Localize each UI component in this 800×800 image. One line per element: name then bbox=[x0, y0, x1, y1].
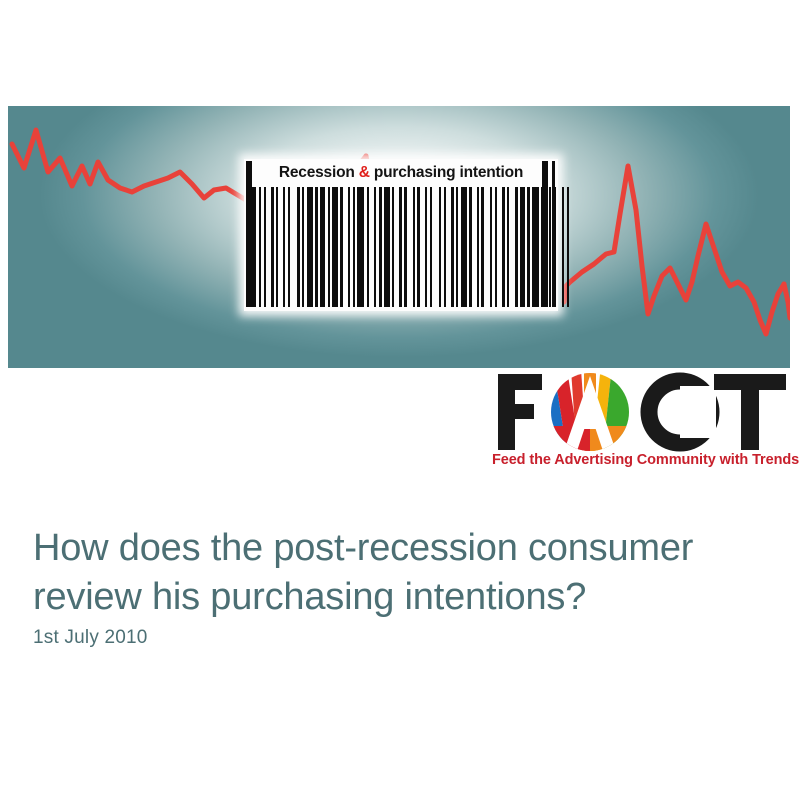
page-title: How does the post-recession consumer rev… bbox=[33, 524, 763, 622]
barcode-space bbox=[432, 187, 439, 307]
presentation-slide: Recession & purchasing intention bbox=[0, 0, 800, 800]
barcode-caption-suffix: purchasing intention bbox=[370, 164, 523, 181]
fact-logo-letter-a-mark bbox=[541, 368, 636, 456]
page-date: 1st July 2010 bbox=[33, 627, 148, 649]
trend-line-right-tail bbox=[784, 284, 790, 318]
barcode-bar bbox=[357, 187, 364, 307]
barcode-caption: Recession & purchasing intention bbox=[244, 164, 558, 182]
fact-logo-letter-t bbox=[714, 374, 786, 450]
barcode-graphic: Recession & purchasing intention bbox=[244, 159, 558, 311]
fact-logo: Feed the Advertising Community with Tren… bbox=[492, 368, 792, 480]
fact-logo-wordmark bbox=[492, 368, 792, 456]
barcode-space bbox=[569, 187, 574, 307]
barcode-space bbox=[290, 187, 297, 307]
barcode-bar bbox=[532, 187, 539, 307]
fact-logo-letter-f bbox=[498, 374, 542, 450]
page-title-line-1: How does the post-recession consumer bbox=[33, 524, 763, 573]
barcode-caption-ampersand: & bbox=[359, 164, 370, 181]
barcode-caption-prefix: Recession bbox=[279, 164, 359, 181]
page-title-line-2: review his purchasing intentions? bbox=[33, 573, 763, 622]
fact-logo-tagline: Feed the Advertising Community with Tren… bbox=[492, 452, 792, 468]
trend-line-right-rise bbox=[564, 166, 784, 334]
fact-logo-letter-c bbox=[649, 381, 716, 443]
barcode-bars bbox=[250, 187, 552, 307]
recession-banner-image: Recession & purchasing intention bbox=[8, 106, 790, 368]
